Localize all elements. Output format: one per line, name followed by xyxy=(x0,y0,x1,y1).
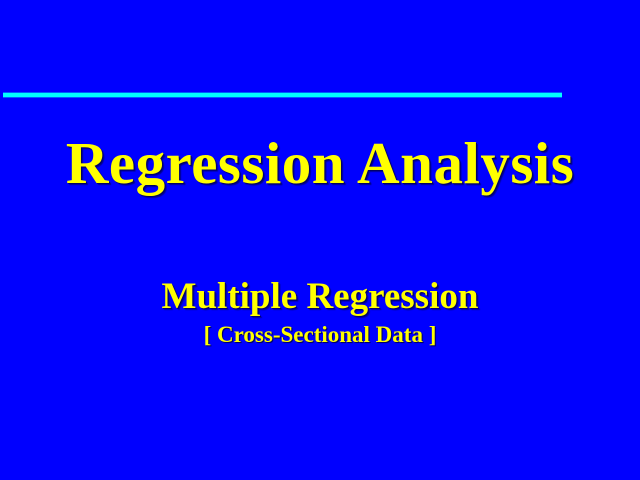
horizontal-rule-icon xyxy=(3,93,562,97)
presentation-slide: Regression Analysis Multiple Regression … xyxy=(0,0,640,480)
slide-title-block: Regression Analysis xyxy=(0,132,640,196)
slide-subtitle-block: Multiple Regression [ Cross-Sectional Da… xyxy=(0,276,640,349)
slide-subtitle: Multiple Regression xyxy=(0,276,640,317)
divider-container xyxy=(0,88,640,102)
slide-subtitle-caption: [ Cross-Sectional Data ] xyxy=(0,322,640,348)
page-title: Regression Analysis xyxy=(0,132,640,196)
